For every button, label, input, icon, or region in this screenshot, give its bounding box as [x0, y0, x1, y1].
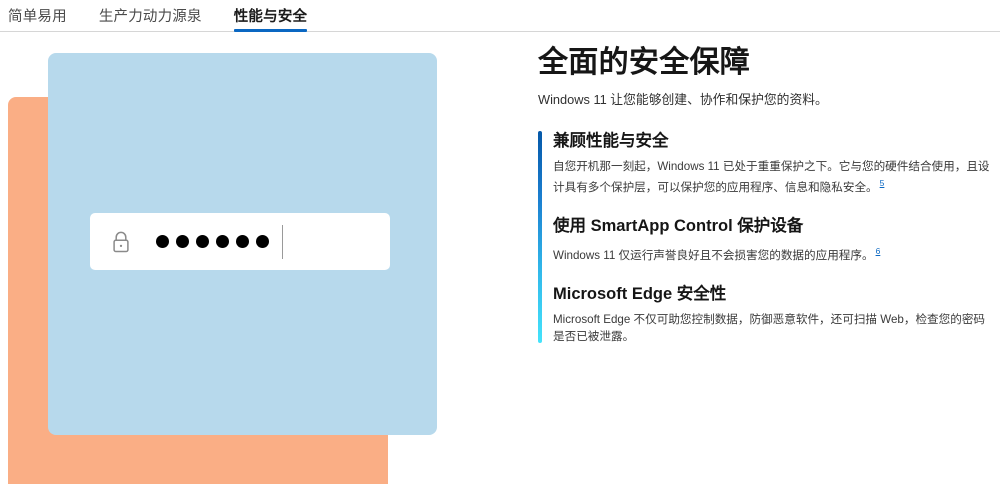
password-dot — [156, 235, 169, 248]
page-subtitle: Windows 11 让您能够创建、协作和保护您的资料。 — [538, 90, 990, 109]
section-body-text: Windows 11 仅运行声誉良好且不会损害您的数据的应用程序。 — [553, 249, 874, 262]
feature-section-smartapp-control: 使用 SmartApp Control 保护设备 Windows 11 仅运行声… — [553, 214, 990, 264]
section-body-text: 自您开机那一刻起，Windows 11 已处于重重保护之下。它与您的硬件结合使用… — [553, 160, 990, 194]
tab-active-underline — [234, 29, 308, 32]
tab-label: 简单易用 — [8, 9, 67, 25]
lock-icon — [110, 230, 132, 254]
feature-section-list: 兼顾性能与安全 自您开机那一刻起，Windows 11 已处于重重保护之下。它与… — [538, 129, 990, 345]
password-dot — [256, 235, 269, 248]
footnote-ref-5[interactable]: 5 — [880, 178, 885, 188]
footnote-ref-6[interactable]: 6 — [876, 246, 881, 256]
password-field-illustration — [90, 213, 390, 270]
content-panel: 全面的安全保障 Windows 11 让您能够创建、协作和保护您的资料。 兼顾性… — [538, 44, 990, 345]
password-dot — [216, 235, 229, 248]
password-dot — [196, 235, 209, 248]
feature-section-edge-security: Microsoft Edge 安全性 Microsoft Edge 不仅可助您控… — [553, 282, 990, 345]
text-caret — [282, 225, 283, 259]
password-masked-dots — [156, 235, 269, 248]
tab-productivity[interactable]: 生产力动力源泉 — [99, 0, 216, 30]
accent-gradient-bar — [538, 131, 542, 343]
section-body: Windows 11 仅运行声誉良好且不会损害您的数据的应用程序。6 — [553, 243, 990, 264]
tab-ease-of-use[interactable]: 简单易用 — [8, 0, 81, 30]
tab-label: 生产力动力源泉 — [99, 9, 202, 25]
page-title: 全面的安全保障 — [538, 44, 990, 82]
section-title: 兼顾性能与安全 — [553, 129, 990, 153]
tab-performance-security[interactable]: 性能与安全 — [234, 0, 308, 30]
feature-section-performance-security: 兼顾性能与安全 自您开机那一刻起，Windows 11 已处于重重保护之下。它与… — [553, 129, 990, 196]
illustration-panel — [0, 33, 520, 484]
section-title: 使用 SmartApp Control 保护设备 — [553, 214, 990, 238]
section-body: 自您开机那一刻起，Windows 11 已处于重重保护之下。它与您的硬件结合使用… — [553, 158, 990, 196]
password-dot — [176, 235, 189, 248]
tab-bar: 简单易用 生产力动力源泉 性能与安全 — [0, 0, 1000, 32]
tab-list: 简单易用 生产力动力源泉 性能与安全 — [0, 0, 1000, 32]
section-title: Microsoft Edge 安全性 — [553, 282, 990, 306]
tab-label: 性能与安全 — [234, 9, 308, 25]
section-body-text: Microsoft Edge 不仅可助您控制数据，防御恶意软件，还可扫描 Web… — [553, 313, 985, 343]
password-dot — [236, 235, 249, 248]
section-body: Microsoft Edge 不仅可助您控制数据，防御恶意软件，还可扫描 Web… — [553, 311, 990, 345]
